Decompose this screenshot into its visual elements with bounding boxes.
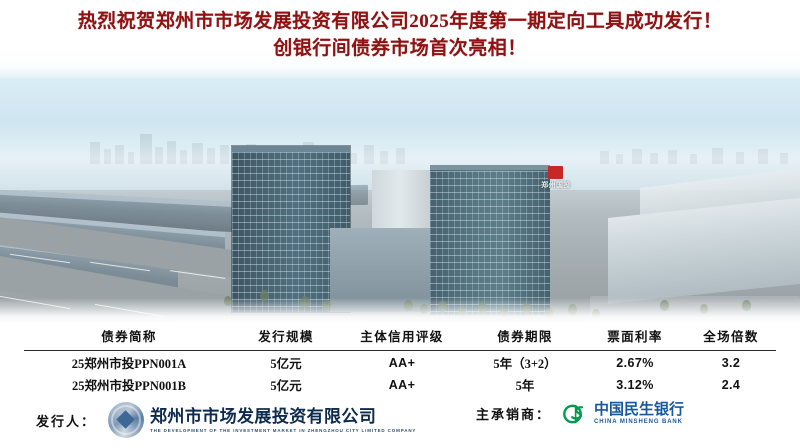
minsheng-bank-logo-icon bbox=[563, 403, 589, 425]
headline-banner: 热烈祝贺郑州市市场发展投资有限公司2025年度第一期定向工具成功发行！ 创银行间… bbox=[0, 0, 800, 78]
table-header-row: 债券简称 发行规模 主体信用评级 债券期限 票面利率 全场倍数 bbox=[24, 322, 776, 350]
tower-roof-cap bbox=[430, 165, 550, 170]
zhengzhou-investment-logo-icon bbox=[108, 402, 144, 438]
headline-line-1: 热烈祝贺郑州市市场发展投资有限公司2025年度第一期定向工具成功发行！ bbox=[78, 9, 723, 34]
cell-bond-name: 25郑州市投PPN001A bbox=[24, 351, 234, 373]
table-row: 25郑州市投PPN001A 5亿元 AA+ 5年（3+2） 2.67% 3.2 bbox=[24, 351, 776, 373]
cell-subscription-multiple: 2.4 bbox=[686, 373, 776, 395]
cell-issue-size: 5亿元 bbox=[234, 373, 338, 395]
issuer-label: 发行人： bbox=[36, 411, 96, 430]
column-header-subscription-multiple: 全场倍数 bbox=[686, 322, 776, 350]
column-header-bond-name: 债券简称 bbox=[24, 322, 234, 350]
column-header-credit-rating: 主体信用评级 bbox=[338, 322, 466, 350]
column-header-issue-size: 发行规模 bbox=[234, 322, 338, 350]
underwriter-name-group: 中国民生银行 CHINA MINSHENG BANK bbox=[594, 402, 684, 425]
cell-coupon-rate: 3.12% bbox=[584, 373, 686, 395]
cell-credit-rating: AA+ bbox=[338, 351, 466, 373]
cell-issue-size: 5亿元 bbox=[234, 351, 338, 373]
headline-line-2: 创银行间债券市场首次亮相！ bbox=[273, 36, 527, 61]
column-header-coupon-rate: 票面利率 bbox=[584, 322, 686, 350]
company-logo-badge-icon bbox=[548, 166, 563, 179]
promotional-poster: 郑州国投 热烈祝贺郑州市市场发展投资有限公司2025年度第一期定向工具成功发行！… bbox=[0, 0, 800, 448]
cell-subscription-multiple: 3.2 bbox=[686, 351, 776, 373]
issuer-name-cn: 郑州市市场发展投资有限公司 bbox=[150, 407, 411, 426]
building-sign-text: 郑州国投 bbox=[532, 180, 580, 190]
issuer-name-group: 郑州市市场发展投资有限公司 THE DEVELOPMENT OF THE INV… bbox=[150, 407, 411, 433]
column-header-bond-term: 债券期限 bbox=[466, 322, 584, 350]
curtain-wall-grid bbox=[430, 171, 550, 315]
underwriter-name-cn: 中国民生银行 bbox=[594, 402, 684, 418]
cell-bond-name: 25郑州市投PPN001B bbox=[24, 373, 234, 395]
bond-details-table: 债券简称 发行规模 主体信用评级 债券期限 票面利率 全场倍数 25郑州市投PP… bbox=[24, 322, 776, 395]
issuer-name-en: THE DEVELOPMENT OF THE INVESTMENT MARKET… bbox=[150, 428, 416, 433]
footer-bar: 发行人： 郑州市市场发展投资有限公司 THE DEVELOPMENT OF TH… bbox=[0, 398, 800, 448]
cell-bond-term: 5年 bbox=[466, 373, 584, 395]
cell-bond-term: 5年（3+2） bbox=[466, 351, 584, 373]
underwriter-label: 主承销商： bbox=[476, 404, 551, 423]
underwriter-name-en: CHINA MINSHENG BANK bbox=[594, 419, 684, 425]
cell-credit-rating: AA+ bbox=[338, 373, 466, 395]
table-row: 25郑州市投PPN001B 5亿元 AA+ 5年 3.12% 2.4 bbox=[24, 373, 776, 395]
cell-coupon-rate: 2.67% bbox=[584, 351, 686, 373]
issuer-block: 发行人： 郑州市市场发展投资有限公司 THE DEVELOPMENT OF TH… bbox=[36, 402, 411, 438]
photo-bottom-fade bbox=[0, 298, 800, 324]
underwriter-block: 主承销商： 中国民生银行 CHINA MINSHENG BANK bbox=[476, 402, 684, 425]
